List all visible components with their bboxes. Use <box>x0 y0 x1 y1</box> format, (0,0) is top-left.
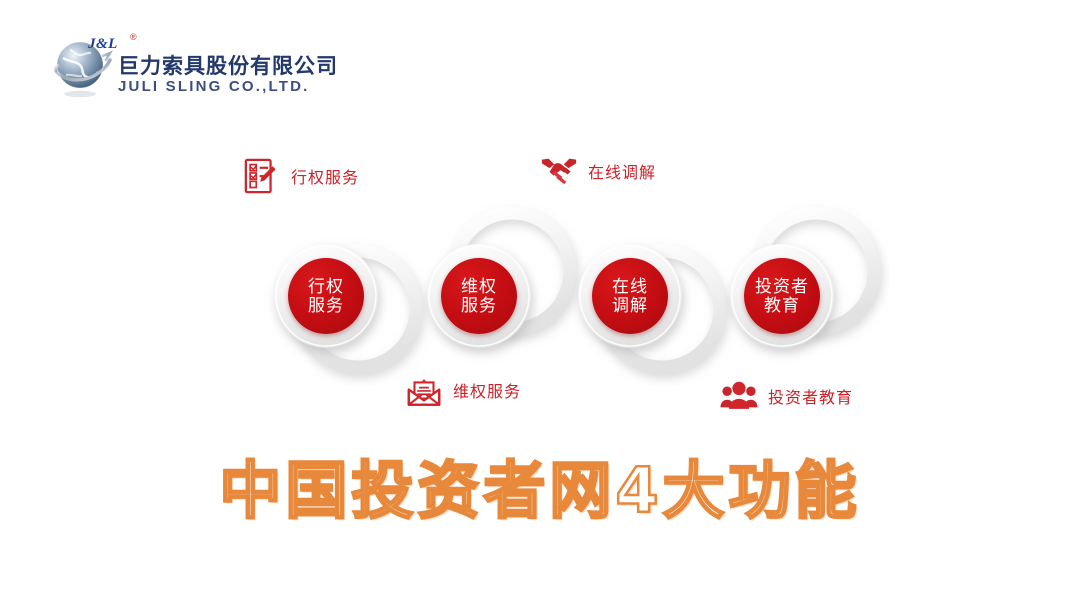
chain-node-2-line1: 维权 <box>461 277 497 296</box>
chain-node-1[interactable]: 行权 服务 <box>288 258 364 334</box>
chain-node-3-line1: 在线 <box>612 277 648 296</box>
registered-trademark-icon: ® <box>130 32 137 42</box>
feature-item-exercise-rights[interactable]: 行权服务 <box>243 157 359 195</box>
open-envelope-icon <box>405 371 443 409</box>
slide-canvas: J&L ® 巨力索具股份有限公司 JULI SLING CO.,LTD. <box>0 0 1080 608</box>
feature-label-online-mediation: 在线调解 <box>588 159 656 183</box>
feature-item-investor-education[interactable]: 投资者教育 <box>720 377 853 415</box>
company-logo: J&L ® 巨力索具股份有限公司 JULI SLING CO.,LTD. <box>40 18 340 104</box>
chain-node-4-line2: 教育 <box>764 296 800 315</box>
feature-label-rights-protection: 维权服务 <box>453 378 521 402</box>
checklist-pencil-icon <box>243 157 281 195</box>
chain-node-3[interactable]: 在线 调解 <box>592 258 668 334</box>
chain-node-3-line2: 调解 <box>612 296 648 315</box>
chain-diagram: 行权 服务 维权 服务 在线 调解 投资者 教育 <box>210 195 890 385</box>
handshake-icon <box>540 152 578 190</box>
chain-node-2-line2: 服务 <box>461 296 497 315</box>
feature-item-rights-protection[interactable]: 维权服务 <box>405 371 521 409</box>
feature-label-exercise-rights: 行权服务 <box>291 164 359 188</box>
chain-node-4[interactable]: 投资者 教育 <box>744 258 820 334</box>
chain-node-1-line2: 服务 <box>308 296 344 315</box>
chain-node-1-line1: 行权 <box>308 277 344 296</box>
logo-mark-text: J&L <box>88 36 118 53</box>
page-title: 中国投资者网4大功能 <box>0 440 1080 530</box>
company-name-cn: 巨力索具股份有限公司 <box>118 50 338 80</box>
chain-node-2[interactable]: 维权 服务 <box>441 258 517 334</box>
feature-item-online-mediation[interactable]: 在线调解 <box>540 152 656 190</box>
company-name-en: JULI SLING CO.,LTD. <box>118 78 310 95</box>
people-group-icon <box>720 377 758 415</box>
chain-node-4-line1: 投资者 <box>755 277 809 296</box>
feature-label-investor-education: 投资者教育 <box>768 384 853 408</box>
